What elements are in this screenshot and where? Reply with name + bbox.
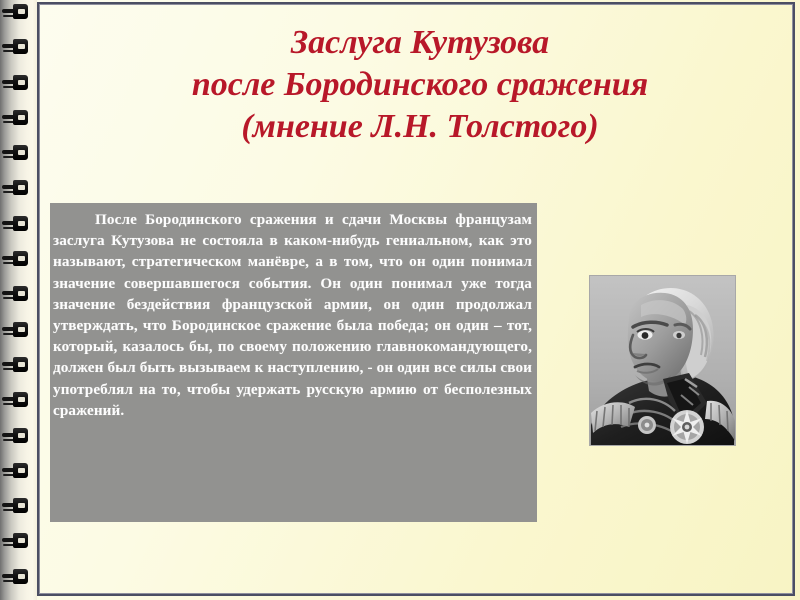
binding-ring-icon: [2, 251, 32, 268]
quote-body-text: После Бородинского сражения и сдачи Моск…: [53, 209, 532, 421]
binding-ring-icon: [2, 498, 32, 515]
binding-ring-icon: [2, 322, 32, 339]
binding-ring-icon: [2, 286, 32, 303]
binding-ring-icon: [2, 216, 32, 233]
title-line-1: Заслуга Кутузова: [60, 22, 780, 64]
binding-ring-icon: [2, 569, 32, 586]
spiral-binding: [0, 0, 37, 600]
page-title: Заслуга Кутузова после Бородинского сраж…: [60, 22, 780, 148]
binding-ring-icon: [2, 110, 32, 127]
quote-text-panel: После Бородинского сражения и сдачи Моск…: [50, 203, 537, 522]
binding-ring-icon: [2, 533, 32, 550]
slide-canvas: Заслуга Кутузова после Бородинского сраж…: [0, 0, 800, 600]
binding-ring-icon: [2, 4, 32, 21]
binding-ring-icon: [2, 357, 32, 374]
binding-ring-icon: [2, 180, 32, 197]
kutuzov-portrait-image: [589, 275, 736, 446]
binding-ring-icon: [2, 392, 32, 409]
title-line-2: после Бородинского сражения: [60, 64, 780, 106]
binding-ring-icon: [2, 463, 32, 480]
title-line-3: (мнение Л.Н. Толстого): [60, 106, 780, 148]
binding-ring-icon: [2, 145, 32, 162]
binding-ring-icon: [2, 75, 32, 92]
binding-ring-icon: [2, 428, 32, 445]
binding-ring-icon: [2, 39, 32, 56]
